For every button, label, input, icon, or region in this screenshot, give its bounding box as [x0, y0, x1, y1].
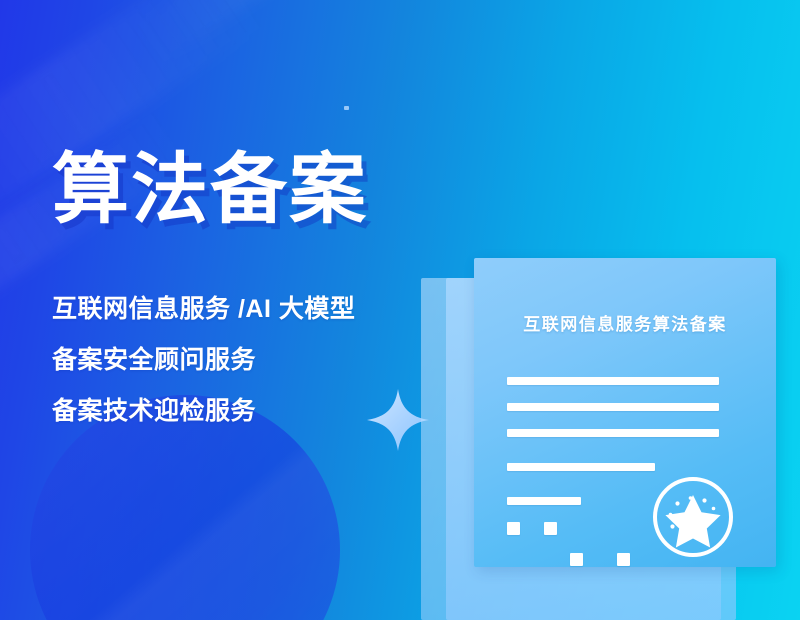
- light-streak-shape: [133, 0, 407, 66]
- service-list-item: 互联网信息服务 /AI 大模型: [52, 297, 452, 322]
- headline-text-column: 算法备案 互联网信息服务 /AI 大模型 备案安全顾问服务 备案技术迎检服务: [52, 152, 452, 424]
- document-front-sheet: 互联网信息服务算法备案: [474, 258, 776, 567]
- document-square: [507, 522, 520, 535]
- service-list-item: 备案技术迎检服务: [52, 399, 452, 424]
- document-square: [570, 553, 583, 566]
- document-title: 互联网信息服务算法备案: [474, 310, 776, 335]
- document-line: [507, 463, 655, 471]
- document-line: [507, 497, 581, 505]
- decorative-circle-shape: [30, 395, 340, 620]
- service-list: 互联网信息服务 /AI 大模型 备案安全顾问服务 备案技术迎检服务: [52, 297, 452, 424]
- document-line: [507, 403, 719, 411]
- certificate-illustration: 互联网信息服务算法备案: [415, 255, 800, 620]
- document-square: [617, 553, 630, 566]
- document-line: [507, 377, 719, 385]
- decorative-speck-dot: [344, 106, 349, 110]
- page-title: 算法备案: [52, 152, 452, 229]
- service-list-item: 备案安全顾问服务: [52, 348, 452, 373]
- star-seal-icon: [650, 474, 736, 560]
- algorithm-filing-banner: 算法备案 互联网信息服务 /AI 大模型 备案安全顾问服务 备案技术迎检服务 互…: [0, 0, 800, 620]
- document-square: [544, 522, 557, 535]
- document-line: [507, 429, 719, 437]
